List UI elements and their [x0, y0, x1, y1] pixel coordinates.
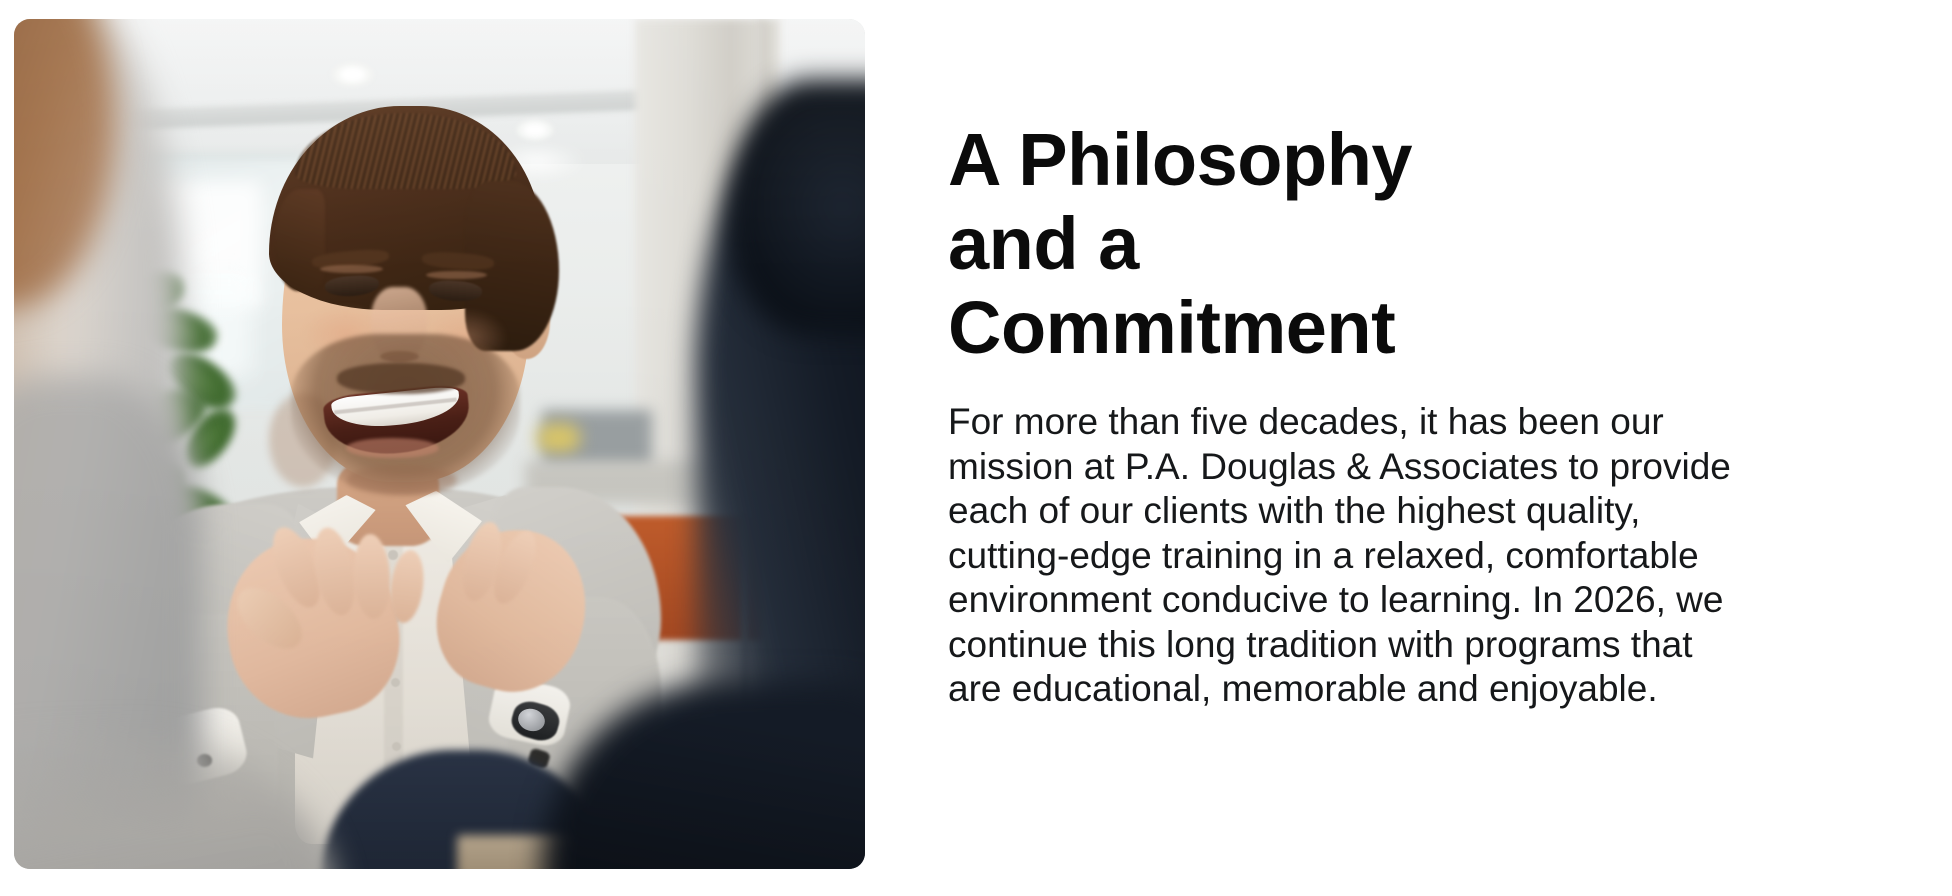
- office-conversation-photo: [14, 19, 865, 869]
- mustache: [337, 363, 465, 394]
- chin-shadow: [346, 465, 457, 495]
- section-body-paragraph: For more than five decades, it has been …: [948, 400, 1740, 712]
- shirt-button: [392, 742, 401, 751]
- section-heading: A Philosophy and a Commitment: [948, 118, 1508, 370]
- text-column: A Philosophy and a Commitment For more t…: [948, 118, 1748, 712]
- shirt-button: [388, 550, 397, 559]
- hair-strands: [295, 113, 516, 190]
- hair-temple: [274, 189, 325, 291]
- philosophy-commitment-section: A Philosophy and a Commitment For more t…: [0, 0, 1952, 896]
- eye-crease-left: [320, 265, 383, 274]
- photo-card: [14, 19, 865, 869]
- eye-crease-right: [426, 271, 487, 280]
